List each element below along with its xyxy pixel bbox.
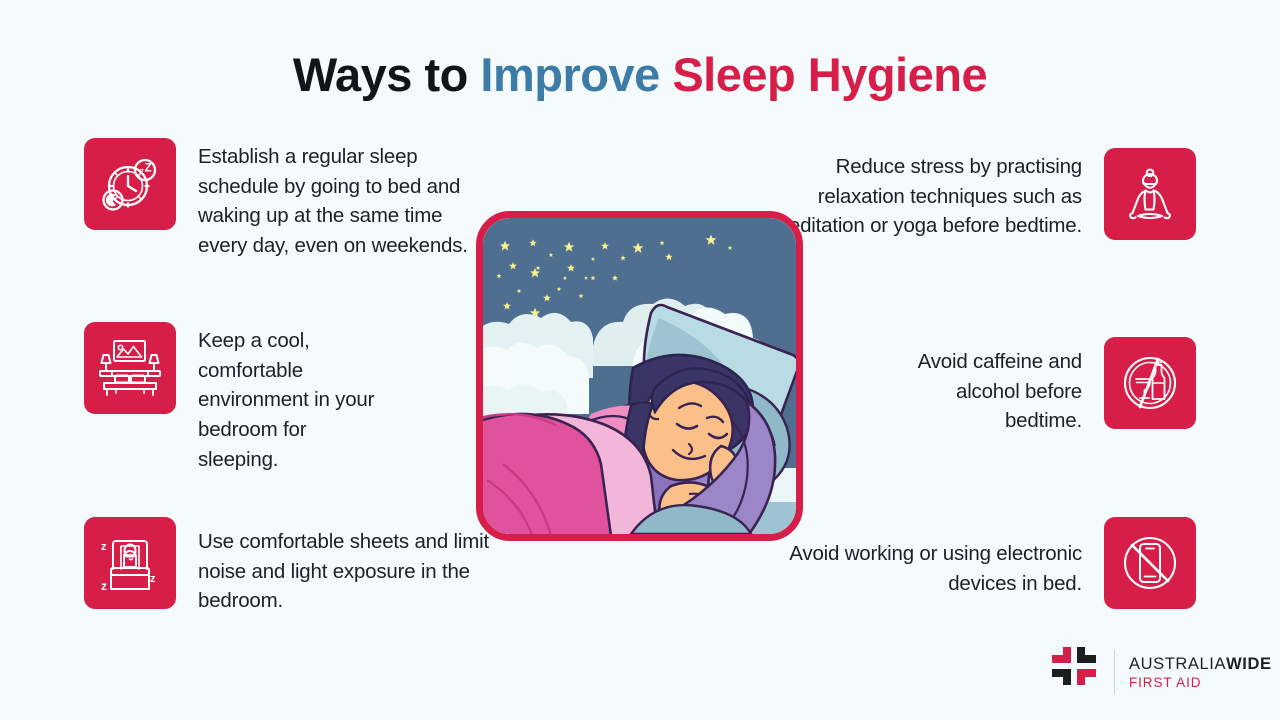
tip-sleep-schedule: z Z Establish a regular sleep schedule b… xyxy=(84,138,476,261)
bedroom-bed-lamps-icon-box xyxy=(84,322,176,414)
first-aid-cross-logo-icon xyxy=(1050,645,1102,699)
svg-text:z: z xyxy=(101,541,107,553)
tip-avoid-devices: Avoid working or using electronic device… xyxy=(786,517,1196,609)
meditation-yoga-lotus-icon-box xyxy=(1104,148,1196,240)
tip-avoid-caffeine-text: Avoid caffeine and alcohol before bedtim… xyxy=(886,347,1082,436)
tip-sheets-noise: z z z Use comfortable sheets and limit n… xyxy=(84,517,494,616)
woman-sleeping-in-bed-starry-night-illustration xyxy=(476,211,803,541)
svg-text:z: z xyxy=(150,573,156,585)
tip-sheets-noise-text: Use comfortable sheets and limit noise a… xyxy=(198,527,494,616)
tip-avoid-devices-text: Avoid working or using electronic device… xyxy=(786,539,1082,598)
tip-reduce-stress-text: Reduce stress by practising relaxation t… xyxy=(772,152,1082,241)
australia-wide-first-aid-logo[interactable]: AUSTRALIAWIDE FIRST AID xyxy=(1050,641,1250,703)
person-sleeping-in-bed-icon-box: z z z xyxy=(84,517,176,609)
logo-line-australiawide: AUSTRALIAWIDE xyxy=(1129,655,1272,673)
no-alcohol-bottle-glass-icon xyxy=(1118,351,1182,415)
logo-wordmark: AUSTRALIAWIDE FIRST AID xyxy=(1129,653,1272,692)
tip-reduce-stress: Reduce stress by practising relaxation t… xyxy=(772,148,1196,241)
page-title: Ways to Improve Sleep Hygiene xyxy=(0,47,1280,102)
bedroom-bed-lamps-icon xyxy=(98,338,162,398)
tip-cool-bedroom-text: Keep a cool, comfortable environment in … xyxy=(198,326,378,475)
tip-sleep-schedule-text: Establish a regular sleep schedule by go… xyxy=(198,142,476,261)
svg-text:z: z xyxy=(101,579,107,593)
tip-cool-bedroom: Keep a cool, comfortable environment in … xyxy=(84,322,378,475)
page-title-part-blue: Improve xyxy=(480,48,672,101)
alarm-clock-zzz-icon-box: z Z xyxy=(84,138,176,230)
person-sleeping-in-bed-icon: z z z xyxy=(98,532,162,594)
tip-avoid-caffeine: Avoid caffeine and alcohol before bedtim… xyxy=(886,337,1196,436)
no-alcohol-bottle-glass-icon-box xyxy=(1104,337,1196,429)
logo-word-wide: WIDE xyxy=(1226,655,1271,673)
no-mobile-phone-icon-box xyxy=(1104,517,1196,609)
logo-line-first-aid: FIRST AID xyxy=(1129,675,1201,690)
no-mobile-phone-icon xyxy=(1118,531,1182,595)
page-title-part-red: Sleep Hygiene xyxy=(672,48,987,101)
svg-text:Z: Z xyxy=(145,162,152,174)
logo-word-australia: AUSTRALIA xyxy=(1129,655,1226,673)
page-title-part-dark: Ways to xyxy=(293,48,481,101)
logo-divider xyxy=(1114,650,1115,694)
meditation-yoga-lotus-icon xyxy=(1119,163,1181,225)
alarm-clock-zzz-icon: z Z xyxy=(99,153,161,215)
